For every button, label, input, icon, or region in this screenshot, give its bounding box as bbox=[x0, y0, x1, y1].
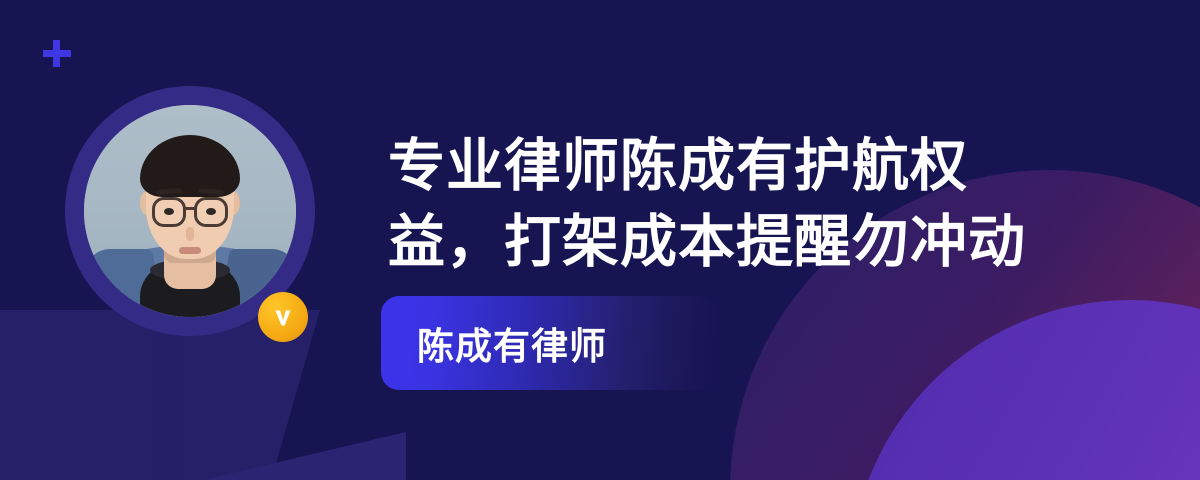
avatar-stem-decoration bbox=[152, 330, 178, 480]
page-title-line-2: 益，打架成本提醒勿冲动 bbox=[388, 204, 1088, 280]
avatar-photo bbox=[84, 105, 296, 317]
lawyer-promo-banner: 专业律师陈成有护航权 益，打架成本提醒勿冲动 陈成有律师 bbox=[0, 0, 1200, 480]
lawyer-name-button[interactable]: 陈成有律师 bbox=[381, 296, 717, 390]
portrait-right-lens bbox=[194, 197, 228, 227]
portrait-nose bbox=[186, 227, 194, 241]
arc-inner-decoration bbox=[850, 300, 1200, 480]
lawyer-name-label: 陈成有律师 bbox=[381, 316, 607, 370]
verified-v-icon bbox=[258, 292, 308, 342]
plus-icon-vertical-bar bbox=[53, 40, 60, 67]
triangle-left-decoration bbox=[186, 432, 406, 480]
page-title: 专业律师陈成有护航权 益，打架成本提醒勿冲动 bbox=[388, 128, 1088, 280]
portrait-glasses-bridge bbox=[185, 207, 196, 210]
page-title-line-1: 专业律师陈成有护航权 bbox=[388, 128, 1088, 204]
portrait-left-lens bbox=[152, 197, 186, 227]
portrait-mouth bbox=[179, 247, 201, 254]
plus-icon bbox=[40, 36, 74, 70]
